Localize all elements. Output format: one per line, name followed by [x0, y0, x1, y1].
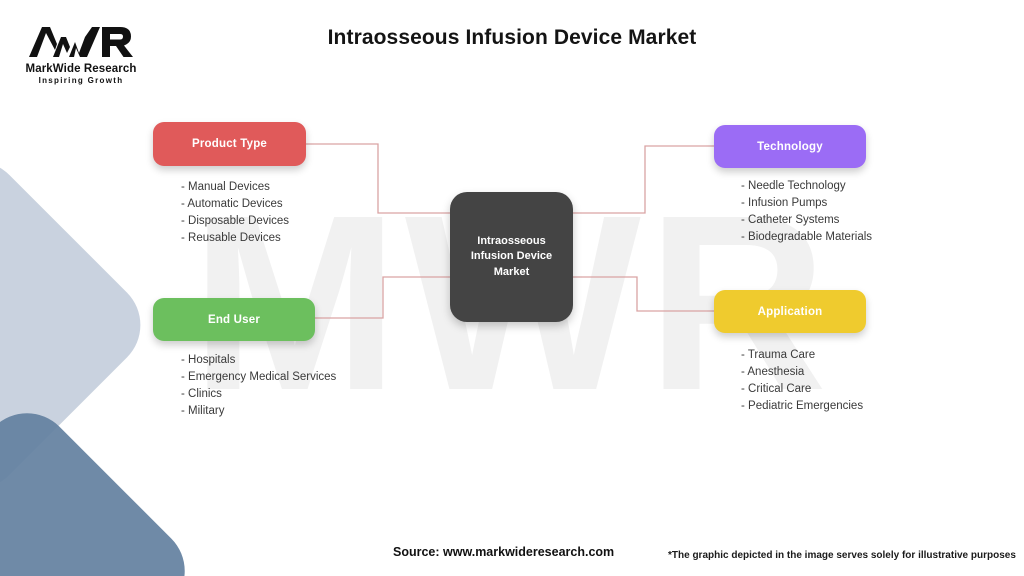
list-item: - Automatic Devices: [181, 196, 306, 213]
category-label-end-user: End User: [208, 314, 260, 326]
list-item: - Hospitals: [181, 352, 336, 369]
category-list-technology: - Needle Technology - Infusion Pumps - C…: [741, 178, 872, 246]
infographic-canvas: MWR MarkWide Research Inspiring Growth I…: [0, 0, 1024, 576]
branch-end-user: End User - Hospitals - Emergency Medical…: [153, 298, 336, 420]
branch-product-type: Product Type - Manual Devices - Automati…: [153, 122, 306, 247]
list-item: - Emergency Medical Services: [181, 369, 336, 386]
list-item: - Anesthesia: [741, 364, 866, 381]
category-box-product-type[interactable]: Product Type: [153, 122, 306, 166]
list-item: - Clinics: [181, 386, 336, 403]
category-label-application: Application: [758, 306, 823, 318]
category-list-application: - Trauma Care - Anesthesia - Critical Ca…: [741, 347, 866, 415]
footer-disclaimer: *The graphic depicted in the image serve…: [668, 550, 1016, 561]
category-box-application[interactable]: Application: [714, 290, 866, 333]
list-item: - Critical Care: [741, 381, 866, 398]
footer-source[interactable]: Source: www.markwideresearch.com: [393, 545, 614, 559]
connector-technology: [572, 146, 714, 213]
list-item: - Manual Devices: [181, 179, 306, 196]
category-label-product-type: Product Type: [192, 138, 267, 150]
list-item: - Biodegradable Materials: [741, 229, 872, 246]
list-item: - Needle Technology: [741, 178, 872, 195]
category-box-end-user[interactable]: End User: [153, 298, 315, 341]
list-item: - Pediatric Emergencies: [741, 398, 866, 415]
list-item: - Military: [181, 403, 336, 420]
branch-application: Application - Trauma Care - Anesthesia -…: [714, 290, 866, 415]
category-list-product-type: - Manual Devices - Automatic Devices - D…: [181, 179, 306, 247]
list-item: - Disposable Devices: [181, 213, 306, 230]
center-node-label: Intraosseous Infusion Device Market: [450, 234, 573, 280]
list-item: - Infusion Pumps: [741, 195, 872, 212]
branch-technology: Technology - Needle Technology - Infusio…: [714, 125, 872, 246]
category-list-end-user: - Hospitals - Emergency Medical Services…: [181, 352, 336, 420]
connector-product-type: [306, 144, 452, 213]
category-box-technology[interactable]: Technology: [714, 125, 866, 168]
list-item: - Catheter Systems: [741, 212, 872, 229]
list-item: - Reusable Devices: [181, 230, 306, 247]
list-item: - Trauma Care: [741, 347, 866, 364]
connector-application: [572, 277, 714, 311]
center-node[interactable]: Intraosseous Infusion Device Market: [450, 192, 573, 322]
category-label-technology: Technology: [757, 141, 823, 153]
